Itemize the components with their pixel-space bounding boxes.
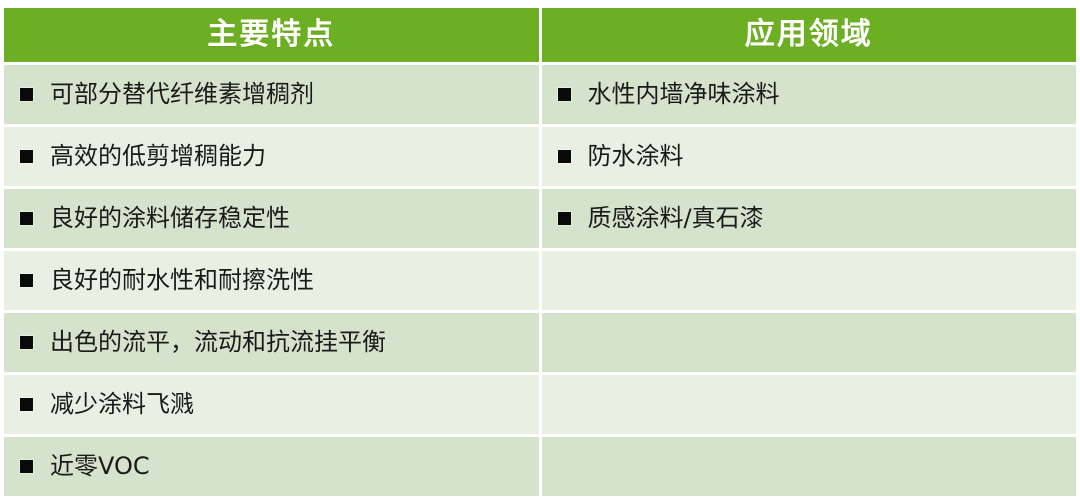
table-row: 可部分替代纤维素增稠剂 水性内墙净味涂料: [4, 65, 1076, 124]
column-header-features-label: 主要特点: [207, 20, 335, 50]
cell-applications-empty: [542, 251, 1077, 310]
table-row: 出色的流平，流动和抗流挂平衡: [4, 313, 1076, 372]
cell-applications: 防水涂料: [542, 127, 1077, 186]
table-row: 减少涂料飞溅: [4, 375, 1076, 434]
cell-features: 良好的涂料储存稳定性: [4, 189, 539, 248]
cell-features: 出色的流平，流动和抗流挂平衡: [4, 313, 539, 372]
table-row: 高效的低剪增稠能力 防水涂料: [4, 127, 1076, 186]
comparison-table: 主要特点 应用领域 可部分替代纤维素增稠剂 水性内墙净味涂料 高效的低剪增稠能力: [4, 8, 1076, 500]
cell-features: 近零VOC: [4, 437, 539, 496]
cell-applications-text: 质感涂料/真石漆: [588, 205, 764, 231]
black-square-bullet-icon: [558, 212, 571, 225]
table-body: 可部分替代纤维素增稠剂 水性内墙净味涂料 高效的低剪增稠能力 防水涂料 良好的涂…: [4, 65, 1076, 496]
black-square-bullet-icon: [558, 88, 571, 101]
cell-applications: 水性内墙净味涂料: [542, 65, 1077, 124]
cell-features-text: 高效的低剪增稠能力: [50, 143, 266, 169]
cell-applications-empty: [542, 375, 1077, 434]
cell-features: 减少涂料飞溅: [4, 375, 539, 434]
black-square-bullet-icon: [20, 274, 33, 287]
column-header-applications: 应用领域: [542, 8, 1077, 62]
cell-features-text: 可部分替代纤维素增稠剂: [50, 81, 314, 107]
black-square-bullet-icon: [20, 398, 33, 411]
cell-applications: 质感涂料/真石漆: [542, 189, 1077, 248]
column-header-features: 主要特点: [4, 8, 539, 62]
cell-features: 良好的耐水性和耐擦洗性: [4, 251, 539, 310]
table-header-row: 主要特点 应用领域: [4, 8, 1076, 62]
cell-features-text: 出色的流平，流动和抗流挂平衡: [50, 329, 386, 355]
cell-features-text: 良好的涂料储存稳定性: [50, 205, 290, 231]
table-row: 良好的耐水性和耐擦洗性: [4, 251, 1076, 310]
black-square-bullet-icon: [20, 212, 33, 225]
cell-features-text: 近零VOC: [50, 453, 150, 479]
table-row: 近零VOC: [4, 437, 1076, 496]
black-square-bullet-icon: [20, 336, 33, 349]
cell-features: 可部分替代纤维素增稠剂: [4, 65, 539, 124]
cell-applications-text: 防水涂料: [588, 143, 684, 169]
cell-features: 高效的低剪增稠能力: [4, 127, 539, 186]
cell-features-text: 减少涂料飞溅: [50, 391, 194, 417]
cell-features-text: 良好的耐水性和耐擦洗性: [50, 267, 314, 293]
cell-applications-empty: [542, 313, 1077, 372]
table-row: 良好的涂料储存稳定性 质感涂料/真石漆: [4, 189, 1076, 248]
black-square-bullet-icon: [558, 150, 571, 163]
cell-applications-text: 水性内墙净味涂料: [588, 81, 780, 107]
black-square-bullet-icon: [20, 460, 33, 473]
black-square-bullet-icon: [20, 150, 33, 163]
cell-applications-empty: [542, 437, 1077, 496]
black-square-bullet-icon: [20, 88, 33, 101]
column-header-applications-label: 应用领域: [745, 20, 873, 50]
